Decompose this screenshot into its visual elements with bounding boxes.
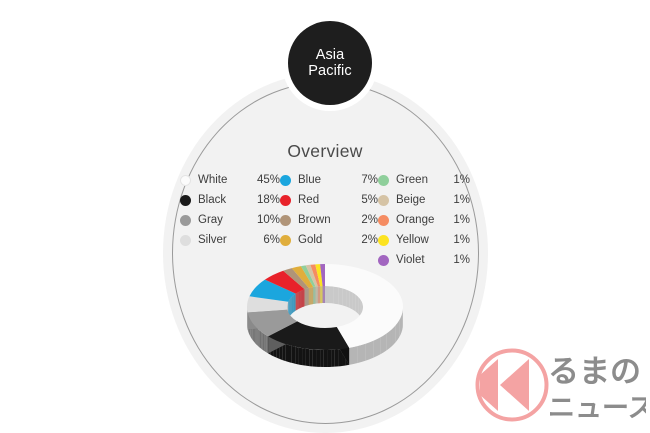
legend-swatch-silver-icon bbox=[180, 235, 191, 246]
donut-outer-wall-black bbox=[309, 349, 313, 366]
legend-swatch-gold-icon bbox=[280, 235, 291, 246]
legend-value: 5% bbox=[358, 194, 378, 206]
legend-swatch-beige-icon bbox=[378, 195, 389, 206]
donut-outer-wall-black bbox=[299, 347, 302, 365]
legend-swatch-orange-icon bbox=[378, 215, 389, 226]
legend-label: Violet bbox=[396, 254, 450, 266]
legend-value: 1% bbox=[450, 174, 470, 186]
legend-item-gray[interactable]: Gray10% bbox=[180, 211, 280, 229]
donut-inner-wall-white bbox=[356, 295, 358, 314]
legend-label: Red bbox=[298, 194, 358, 206]
legend-value: 6% bbox=[260, 234, 280, 246]
legend-value: 1% bbox=[450, 234, 470, 246]
legend-swatch-black-icon bbox=[180, 195, 191, 206]
legend-item-brown[interactable]: Brown2% bbox=[280, 211, 378, 229]
donut-outer-wall-gray bbox=[257, 328, 258, 346]
donut-outer-wall-black bbox=[316, 350, 320, 367]
watermark-line1: るまの bbox=[548, 354, 641, 390]
legend-column-2: Blue7%Red5%Brown2%Gold2% bbox=[280, 171, 378, 271]
legend-swatch-gray-icon bbox=[180, 215, 191, 226]
donut-outer-wall-gray bbox=[259, 330, 260, 348]
legend-value: 45% bbox=[254, 174, 280, 186]
legend-value: 18% bbox=[254, 194, 280, 206]
region-title-bubble: Asia Pacific bbox=[288, 21, 372, 105]
donut-outer-wall-gray bbox=[264, 334, 265, 352]
donut-inner-wall-white bbox=[346, 290, 350, 308]
legend-label: Blue bbox=[298, 174, 358, 186]
donut-chart-svg bbox=[237, 255, 413, 373]
donut-outer-wall-white bbox=[373, 337, 380, 357]
legend-value: 2% bbox=[358, 234, 378, 246]
legend-item-orange[interactable]: Orange1% bbox=[378, 211, 470, 229]
legend-value: 1% bbox=[450, 214, 470, 226]
donut-outer-wall-black bbox=[302, 348, 306, 366]
legend-item-white[interactable]: White45% bbox=[180, 171, 280, 189]
watermark-text: るまの ニュース bbox=[548, 349, 646, 423]
legend-label: Beige bbox=[396, 194, 450, 206]
donut-inner-wall-white bbox=[353, 293, 356, 312]
legend-label: Silver bbox=[198, 234, 260, 246]
donut-inner-wall-white bbox=[329, 286, 333, 303]
legend-column-3: Green1%Beige1%Orange1%Yellow1%Violet1% bbox=[378, 171, 470, 271]
legend-value: 2% bbox=[358, 214, 378, 226]
legend-label: Gold bbox=[298, 234, 358, 246]
legend-item-violet[interactable]: Violet1% bbox=[378, 251, 470, 269]
donut-inner-wall-white bbox=[334, 287, 338, 305]
legend-item-yellow[interactable]: Yellow1% bbox=[378, 231, 470, 249]
legend-item-black[interactable]: Black18% bbox=[180, 191, 280, 209]
legend-label: Green bbox=[396, 174, 450, 186]
donut-outer-wall-gray bbox=[265, 335, 266, 353]
legend-value: 7% bbox=[358, 174, 378, 186]
legend-label: Gray bbox=[198, 214, 254, 226]
donut-inner-wall-white bbox=[358, 297, 360, 316]
legend-item-green[interactable]: Green1% bbox=[378, 171, 470, 189]
region-title-line1: Asia bbox=[316, 47, 345, 63]
donut-outer-wall-gray bbox=[256, 327, 257, 345]
legend-swatch-yellow-icon bbox=[378, 235, 389, 246]
donut-outer-wall-black bbox=[335, 349, 339, 366]
donut-outer-wall-white bbox=[349, 346, 358, 365]
legend-swatch-violet-icon bbox=[378, 255, 389, 266]
donut-outer-wall-white bbox=[358, 344, 366, 363]
legend-value: 10% bbox=[254, 214, 280, 226]
donut-outer-wall-white bbox=[366, 341, 374, 361]
watermark-line2: ニュース bbox=[548, 393, 646, 423]
donut-inner-wall-white bbox=[325, 286, 329, 303]
legend-swatch-blue-icon bbox=[280, 175, 291, 186]
legend-label: White bbox=[198, 174, 254, 186]
donut-outer-wall-gray bbox=[267, 336, 268, 354]
donut-outer-wall-black bbox=[327, 350, 331, 367]
donut-outer-wall-black bbox=[313, 349, 317, 366]
legend-value: 1% bbox=[450, 194, 470, 206]
donut-outer-wall-black bbox=[306, 349, 310, 366]
donut-outer-wall-gray bbox=[262, 332, 263, 350]
legend-swatch-white-icon bbox=[180, 175, 191, 186]
chart-legend: White45%Black18%Gray10%Silver6% Blue7%Re… bbox=[180, 171, 470, 271]
donut-outer-wall-gray bbox=[258, 329, 259, 347]
donut-inner-wall-white bbox=[350, 291, 353, 310]
donut-outer-wall-black bbox=[320, 350, 324, 367]
legend-swatch-green-icon bbox=[378, 175, 389, 186]
legend-item-blue[interactable]: Blue7% bbox=[280, 171, 378, 189]
donut-outer-wall-black bbox=[285, 344, 288, 362]
legend-swatch-brown-icon bbox=[280, 215, 291, 226]
donut-outer-wall-gray bbox=[263, 333, 264, 351]
donut-chart bbox=[237, 255, 413, 373]
legend-swatch-red-icon bbox=[280, 195, 291, 206]
donut-outer-wall-gray bbox=[260, 331, 261, 349]
donut-outer-wall-black bbox=[324, 350, 328, 367]
watermark: るまの ニュース bbox=[474, 345, 646, 429]
legend-label: Black bbox=[198, 194, 254, 206]
legend-label: Brown bbox=[298, 214, 358, 226]
overview-heading: Overview bbox=[0, 141, 650, 162]
kuruma-chevron-circle-icon bbox=[474, 347, 550, 423]
donut-outer-wall-black bbox=[295, 347, 298, 365]
donut-outer-wall-black bbox=[289, 345, 292, 363]
legend-item-red[interactable]: Red5% bbox=[280, 191, 378, 209]
donut-outer-wall-black bbox=[292, 346, 295, 364]
legend-column-1: White45%Black18%Gray10%Silver6% bbox=[180, 171, 280, 271]
donut-outer-wall-black bbox=[331, 350, 335, 367]
legend-item-beige[interactable]: Beige1% bbox=[378, 191, 470, 209]
legend-item-silver[interactable]: Silver6% bbox=[180, 231, 280, 249]
donut-inner-wall-white bbox=[342, 288, 346, 306]
legend-item-gold[interactable]: Gold2% bbox=[280, 231, 378, 249]
donut-slices bbox=[247, 264, 403, 367]
legend-value: 1% bbox=[450, 254, 470, 266]
region-title-line2: Pacific bbox=[308, 63, 351, 79]
legend-label: Yellow bbox=[396, 234, 450, 246]
donut-inner-wall-white bbox=[338, 287, 342, 305]
donut-outer-wall-gray bbox=[255, 326, 256, 344]
infographic-canvas: Asia Pacific Overview White45%Black18%Gr… bbox=[0, 0, 650, 433]
legend-label: Orange bbox=[396, 214, 450, 226]
